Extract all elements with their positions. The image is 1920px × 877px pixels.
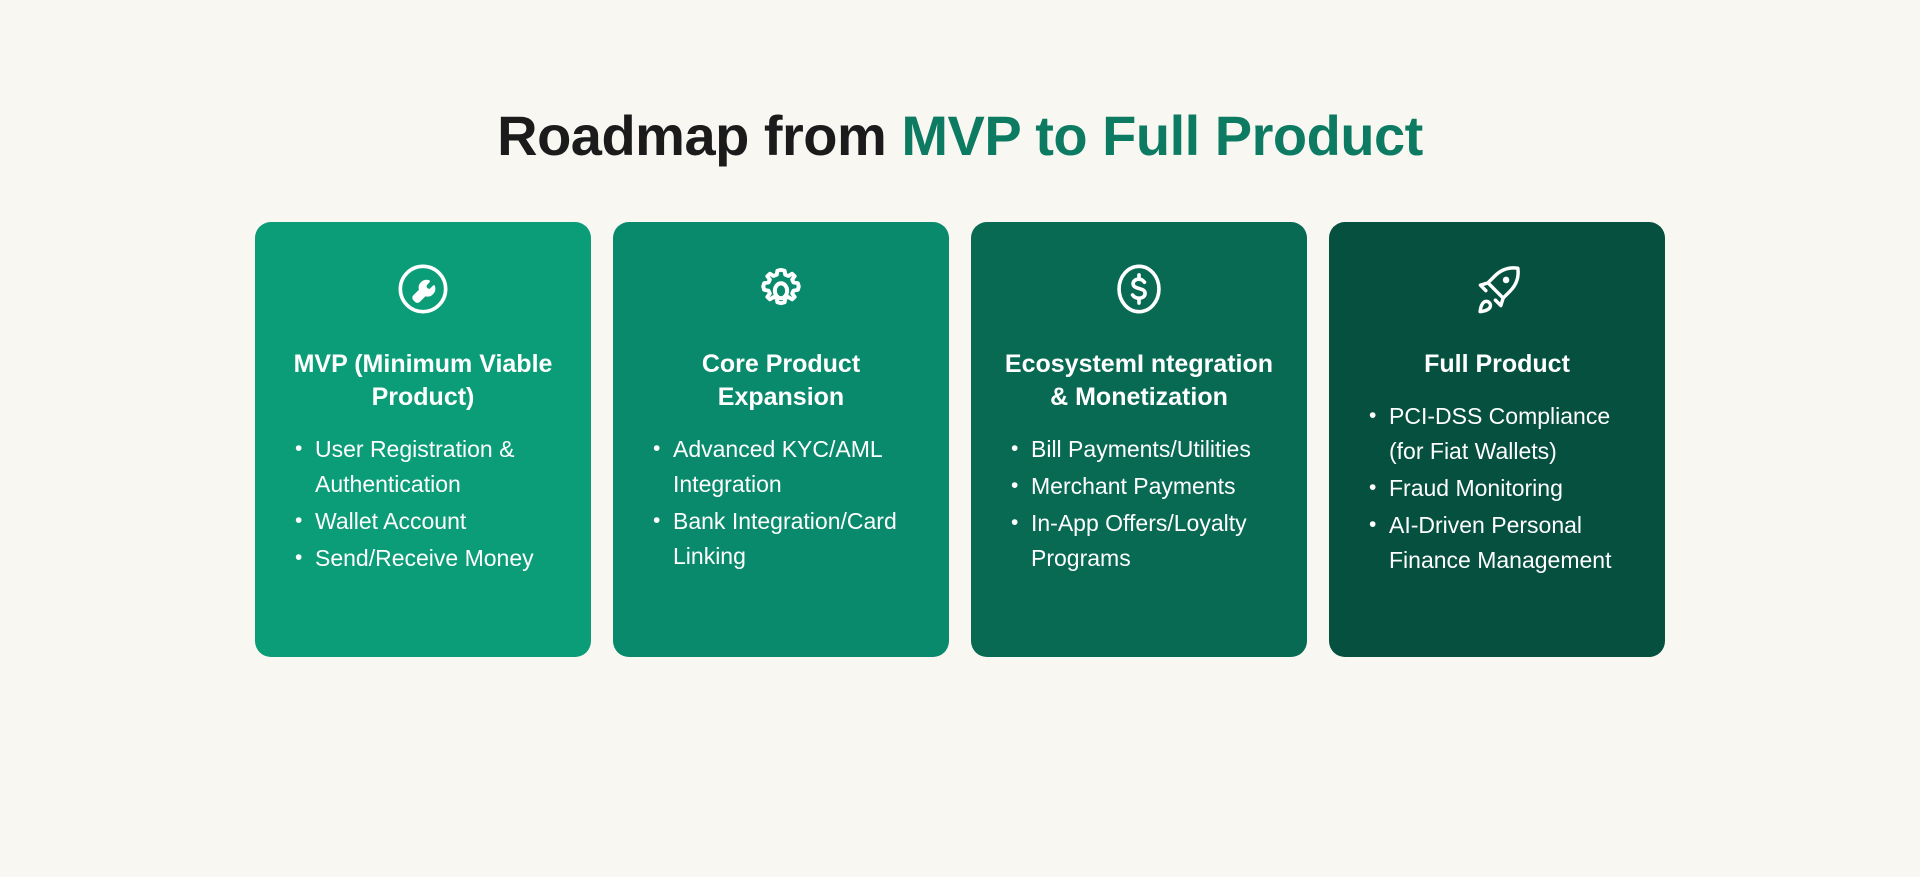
list-item: Fraud Monitoring bbox=[1365, 471, 1639, 506]
page-title-accent: MVP to Full Product bbox=[901, 104, 1422, 167]
list-item: User Registration & Authentication bbox=[291, 432, 565, 502]
roadmap-card-full-product: Full Product PCI-DSS Compliance (for Fia… bbox=[1329, 222, 1665, 657]
page-title: Roadmap from MVP to Full Product bbox=[497, 105, 1423, 167]
list-item: Advanced KYC/AML Integration bbox=[649, 432, 923, 502]
card-bullet-list: Bill Payments/Utilities Merchant Payment… bbox=[997, 432, 1281, 579]
list-item: In-App Offers/Loyalty Programs bbox=[1007, 506, 1281, 576]
roadmap-card-row: MVP (Minimum Viable Product) User Regist… bbox=[255, 222, 1665, 657]
list-item: Send/Receive Money bbox=[291, 541, 565, 576]
list-item: Bank Integration/Card Linking bbox=[649, 504, 923, 574]
rocket-icon bbox=[1468, 258, 1526, 320]
card-bullet-list: PCI-DSS Compliance (for Fiat Wallets) Fr… bbox=[1355, 399, 1639, 581]
card-title: EcosystemI ntegration & Monetization bbox=[997, 348, 1281, 414]
card-bullet-list: Advanced KYC/AML Integration Bank Integr… bbox=[639, 432, 923, 577]
card-title: Full Product bbox=[1355, 348, 1639, 381]
list-item: Bill Payments/Utilities bbox=[1007, 432, 1281, 467]
card-bullet-list: User Registration & Authentication Walle… bbox=[281, 432, 565, 579]
roadmap-card-ecosystem-integration: EcosystemI ntegration & Monetization Bil… bbox=[971, 222, 1307, 657]
page-title-primary: Roadmap from bbox=[497, 104, 901, 167]
list-item: AI-Driven Personal Finance Management bbox=[1365, 508, 1639, 578]
roadmap-card-mvp: MVP (Minimum Viable Product) User Regist… bbox=[255, 222, 591, 657]
dollar-circle-icon bbox=[1110, 258, 1168, 320]
gear-icon bbox=[753, 258, 809, 320]
list-item: Merchant Payments bbox=[1007, 469, 1281, 504]
list-item: Wallet Account bbox=[291, 504, 565, 539]
roadmap-card-core-product-expansion: Core Product Expansion Advanced KYC/AML … bbox=[613, 222, 949, 657]
card-title: Core Product Expansion bbox=[639, 348, 923, 414]
list-item: PCI-DSS Compliance (for Fiat Wallets) bbox=[1365, 399, 1639, 469]
wrench-circle-icon bbox=[394, 258, 452, 320]
card-title: MVP (Minimum Viable Product) bbox=[281, 348, 565, 414]
